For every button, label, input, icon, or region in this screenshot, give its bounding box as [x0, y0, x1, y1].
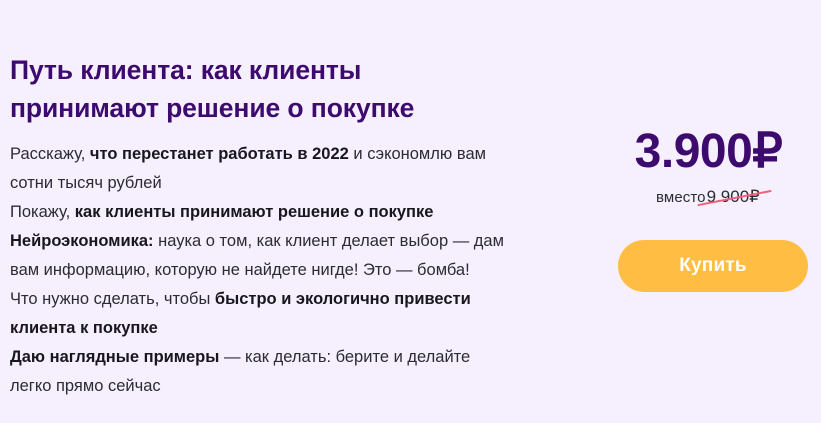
description-line-2: Покажу, как клиенты принимают решение о …: [10, 198, 570, 227]
description-run-2-0: Покажу,: [10, 203, 75, 221]
promo-description: Расскажу, что перестанет работать в 2022…: [10, 140, 570, 401]
description-run-0-1: что перестанет работать в 2022: [90, 145, 349, 163]
description-line-5: Что нужно сделать, чтобы быстро и эколог…: [10, 285, 570, 314]
description-line-6: клиента к покупке: [10, 314, 570, 343]
buy-button[interactable]: Купить: [618, 240, 808, 292]
old-price-value: 9.900₽: [706, 187, 761, 207]
description-line-4: вам информацию, которую не найдете нигде…: [10, 256, 570, 285]
description-run-4-0: вам информацию, которую не найдете нигде…: [10, 261, 470, 279]
description-run-1-0: сотни тысяч рублей: [10, 174, 162, 192]
description-run-8-0: легко прямо сейчас: [10, 377, 161, 395]
description-run-3-1: наука о том, как клиент делает выбор — д…: [154, 232, 504, 250]
description-run-5-0: Что нужно сделать, чтобы: [10, 290, 215, 308]
page-title: Путь клиента: как клиентыпринимают решен…: [10, 51, 610, 127]
description-run-3-0: Нейроэкономика:: [10, 232, 154, 250]
description-line-3: Нейроэкономика: наука о том, как клиент …: [10, 227, 570, 256]
description-run-2-1: как клиенты принимают решение о покупке: [75, 203, 434, 221]
old-price-row: вместо9.900₽: [596, 187, 821, 208]
current-price: 3.900₽: [596, 125, 821, 179]
description-run-0-0: Расскажу,: [10, 145, 90, 163]
description-run-5-1: быстро и экологично привести: [215, 290, 471, 308]
description-line-0: Расскажу, что перестанет работать в 2022…: [10, 140, 570, 169]
description-line-1: сотни тысяч рублей: [10, 169, 570, 198]
description-run-7-1: — как делать: берите и делайте: [219, 348, 470, 366]
description-run-6-0: клиента к покупке: [10, 319, 158, 337]
page-title-line-0: Путь клиента: как клиенты: [10, 51, 610, 89]
description-run-0-2: и сэкономлю вам: [349, 145, 486, 163]
page-title-line-1: принимают решение о покупке: [10, 89, 610, 127]
description-run-7-0: Даю наглядные примеры: [10, 348, 219, 366]
promo-card: Путь клиента: как клиентыпринимают решен…: [0, 0, 821, 423]
price-block: 3.900₽ вместо9.900₽: [596, 125, 821, 208]
description-line-7: Даю наглядные примеры — как делать: бери…: [10, 343, 570, 372]
description-line-8: легко прямо сейчас: [10, 372, 570, 401]
